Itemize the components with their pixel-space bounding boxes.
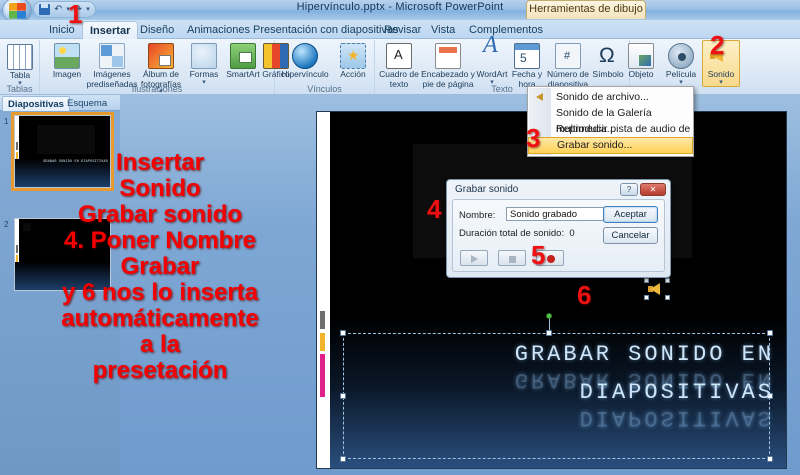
slide-title-text-2[interactable]: DIAPOSITIVAS DIAPOSITIVAS: [374, 378, 774, 432]
annotation-number-6: 6: [577, 280, 591, 311]
save-icon[interactable]: [39, 4, 50, 15]
resize-handle[interactable]: [665, 278, 670, 283]
ribbon-button-label: Símbolo: [589, 70, 627, 80]
ribbon-button-label: Acción: [333, 70, 373, 80]
resize-handle[interactable]: [644, 295, 649, 300]
ribbon-button-album-de-fotografias[interactable]: Álbum de fotografías ▾: [136, 41, 186, 95]
annotation-number-4: 4: [427, 194, 441, 225]
annotation-line-5: Grabar: [0, 254, 320, 280]
undo-icon[interactable]: ↶: [54, 5, 62, 15]
menu-item-label: Grabar sonido...: [557, 139, 632, 151]
duration-value: 0: [569, 228, 574, 239]
accept-button[interactable]: Aceptar: [603, 206, 658, 223]
menu-item-reproducir-pista-audio-cd[interactable]: Reproducir pista de audio de CD...: [528, 121, 693, 137]
annotation-number-2: 2: [710, 30, 724, 61]
cancel-button[interactable]: Cancelar: [603, 227, 658, 244]
annotation-number-3: 3: [526, 123, 540, 154]
ribbon-button-label: Hipervínculo: [279, 70, 331, 80]
chevron-down-icon[interactable]: ▾: [662, 80, 700, 86]
ribbon-button-fecha-y-hora[interactable]: Fecha y hora: [509, 41, 545, 89]
rotate-handle[interactable]: [546, 313, 552, 319]
inserted-sound-object[interactable]: [646, 280, 668, 298]
play-icon: [471, 255, 478, 263]
ribbon-button-wordart[interactable]: WordArt ▾: [473, 41, 511, 86]
ribbon-group-label-vinculos: Vínculos: [275, 84, 374, 94]
stop-button[interactable]: [498, 250, 526, 266]
clipart-icon: [99, 43, 125, 69]
hyperlink-icon: [292, 43, 318, 69]
header-footer-icon: [435, 43, 461, 69]
ribbon-button-accion[interactable]: Acción: [333, 41, 373, 80]
ribbon-button-hipervinculo[interactable]: Hipervínculo: [279, 41, 331, 80]
slide-number-icon: [555, 43, 581, 69]
resize-handle[interactable]: [767, 330, 773, 336]
ribbon-button-label: Imágenes prediseñadas: [86, 70, 138, 89]
contextual-tab-group-label: Herramientas de dibujo: [526, 0, 646, 19]
ribbon-button-label: Álbum de fotografías: [136, 70, 186, 89]
slide-title-line2-reflection: DIAPOSITIVAS: [374, 403, 774, 432]
annotation-line-7: automáticamente: [0, 306, 320, 332]
menu-item-sonido-galeria-multimedia[interactable]: Sonido de la Galería multimedia...: [528, 105, 693, 121]
annotation-number-1: 1: [68, 0, 82, 30]
date-time-icon: [514, 43, 540, 69]
dialog-title: Grabar sonido: [455, 184, 518, 195]
ribbon-button-imagen[interactable]: Imagen: [44, 41, 90, 80]
table-icon: [7, 44, 33, 70]
dialog-window-buttons: ? ✕: [620, 183, 666, 196]
shapes-icon: [191, 43, 217, 69]
ribbon-button-tabla[interactable]: Tabla ▾: [0, 42, 43, 87]
object-icon: [628, 43, 654, 69]
textbox-icon: [386, 43, 412, 69]
annotation-line-1: Insertar: [0, 150, 320, 176]
annotation-line-2: Sonido: [0, 176, 320, 202]
ribbon-button-objeto[interactable]: Objeto: [623, 41, 659, 80]
action-icon: [340, 43, 366, 69]
annotation-number-5: 5: [531, 240, 545, 271]
window-title: Hipervínculo.pptx - Microsoft PowerPoint: [0, 1, 800, 13]
resize-handle[interactable]: [546, 330, 552, 336]
sound-speaker-icon: [650, 283, 660, 295]
slides-pane-tabs: Diapositivas Esquema: [0, 95, 120, 111]
ribbon-button-label: Objeto: [623, 70, 659, 80]
tab-diapositivas[interactable]: Diapositivas: [2, 96, 70, 111]
picture-icon: [54, 43, 80, 69]
ribbon-button-simbolo[interactable]: Símbolo: [589, 41, 627, 80]
ribbon-button-formas[interactable]: Formas ▾: [184, 41, 224, 86]
tab-complementos[interactable]: Complementos: [462, 21, 550, 39]
ribbon-group-label-tablas: Tablas: [0, 84, 39, 94]
annotation-line-9: presetación: [0, 358, 320, 384]
photo-album-icon: [148, 43, 174, 69]
annotation-line-3: Grabar sonido: [0, 202, 320, 228]
ribbon-button-numero-de-diapositiva[interactable]: Número de diapositiva: [545, 41, 591, 89]
name-input[interactable]: Sonido grabado: [506, 207, 609, 221]
ribbon-button-label: Imagen: [44, 70, 90, 80]
menu-item-grabar-sonido[interactable]: Grabar sonido...: [528, 137, 693, 154]
tab-esquema[interactable]: Esquema: [62, 96, 112, 111]
resize-handle[interactable]: [665, 295, 670, 300]
film-icon: [668, 43, 694, 69]
stop-icon: [509, 256, 516, 263]
chevron-down-icon[interactable]: ▾: [703, 80, 739, 86]
slide-title-line1: GRABAR SONIDO EN: [515, 342, 774, 367]
tab-diseno[interactable]: Diseño: [133, 21, 181, 39]
chevron-down-icon[interactable]: ▾: [184, 80, 224, 86]
ribbon-button-cuadro-de-texto[interactable]: Cuadro de texto: [378, 41, 420, 89]
office-logo-icon: [9, 3, 26, 19]
annotation-line-4: 4. Poner Nombre: [0, 228, 320, 254]
tab-insertar[interactable]: Insertar: [82, 21, 138, 39]
dialog-body: Nombre: Sonido grabado Duración total de…: [452, 199, 665, 272]
ribbon-button-imagenes-predisenadas[interactable]: Imágenes prediseñadas: [86, 41, 138, 89]
annotation-text-block: Insertar Sonido Grabar sonido 4. Poner N…: [0, 150, 320, 384]
sound-dropdown-menu[interactable]: Sonido de archivo... Sonido de la Galerí…: [527, 86, 694, 157]
duration-label-text: Duración total de sonido:: [459, 228, 564, 239]
chevron-down-icon[interactable]: ▾: [473, 80, 511, 86]
ribbon-button-label: Encabezado y pie de página: [421, 70, 475, 89]
speaker-icon: [533, 92, 546, 103]
wordart-icon: [479, 43, 505, 69]
symbol-icon: [595, 43, 621, 69]
ribbon-tab-strip: Inicio Insertar Diseño Animaciones Prese…: [0, 20, 800, 39]
resize-handle[interactable]: [644, 278, 649, 283]
tab-vista[interactable]: Vista: [424, 21, 462, 39]
grabar-sonido-dialog[interactable]: Grabar sonido ? ✕ Nombre: Sonido grabado…: [446, 179, 671, 278]
menu-item-sonido-de-archivo[interactable]: Sonido de archivo...: [528, 89, 693, 105]
ribbon-button-label: Cuadro de texto: [378, 70, 420, 89]
resize-handle[interactable]: [340, 456, 346, 462]
annotation-line-6: y 6 nos lo inserta: [0, 280, 320, 306]
smartart-icon: [230, 43, 256, 69]
resize-handle[interactable]: [340, 393, 346, 399]
title-bar: Hipervínculo.pptx - Microsoft PowerPoint…: [0, 0, 800, 20]
current-slide[interactable]: GRABAR SONIDO EN GRABAR SONIDO EN DIAPOS…: [316, 111, 787, 469]
ribbon-group-tablas: Tabla ▾ Tablas: [0, 40, 40, 94]
resize-handle[interactable]: [340, 330, 346, 336]
name-label: Nombre:: [459, 210, 495, 221]
ribbon-button-pelicula[interactable]: Película ▾: [662, 41, 700, 86]
slide-title-line2: DIAPOSITIVAS: [580, 380, 774, 405]
menu-item-label: Sonido de archivo...: [556, 91, 649, 103]
play-button[interactable]: [460, 250, 488, 266]
help-button[interactable]: ?: [620, 183, 638, 196]
resize-handle[interactable]: [767, 456, 773, 462]
ribbon-button-encabezado-y-pie-de-pagina[interactable]: Encabezado y pie de página: [421, 41, 475, 89]
annotation-line-8: a la: [0, 332, 320, 358]
close-button[interactable]: ✕: [640, 183, 666, 196]
duration-label: Duración total de sonido: 0: [459, 228, 575, 239]
customize-qat-icon[interactable]: ▾: [86, 6, 90, 13]
record-icon: [547, 255, 555, 263]
thumbnail-number-1: 1: [4, 117, 8, 126]
quick-access-toolbar: ↶ ▾ ↷ ▾: [33, 1, 96, 18]
powerpoint-window: Hipervínculo.pptx - Microsoft PowerPoint…: [0, 0, 800, 475]
tab-revisar[interactable]: Revisar: [377, 21, 428, 39]
